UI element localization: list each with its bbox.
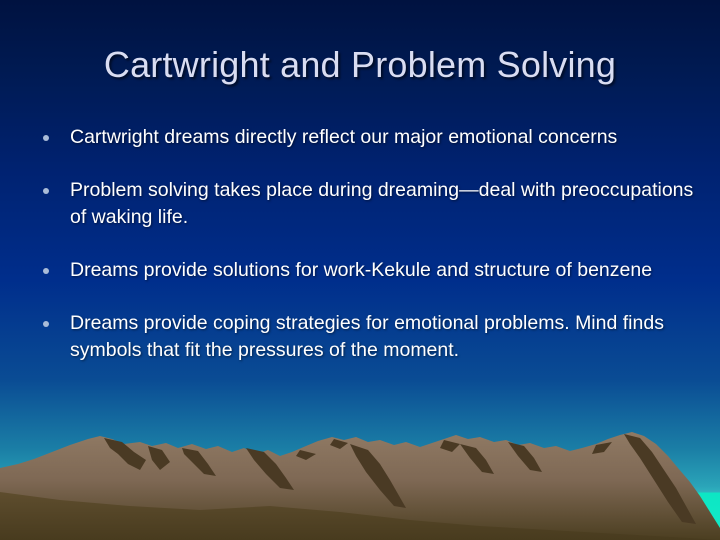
mountain-foreground-shape	[0, 492, 720, 540]
mountain-shadow-shape	[296, 450, 316, 460]
bullet-marker-icon	[43, 135, 49, 141]
list-item: Problem solving takes place during dream…	[36, 177, 696, 231]
list-item-text: Dreams provide solutions for work-Kekule…	[70, 257, 696, 284]
mountain-landscape-icon	[0, 430, 720, 540]
list-item: Dreams provide solutions for work-Kekule…	[36, 257, 696, 284]
list-item-text: Dreams provide coping strategies for emo…	[70, 310, 696, 364]
mountain-shadow-shape	[246, 448, 294, 490]
mountain-shadow-shape	[624, 434, 696, 524]
mountain-shadow-shape	[350, 444, 406, 508]
mountain-shadow-shape	[330, 439, 348, 449]
list-item: Dreams provide coping strategies for emo…	[36, 310, 696, 364]
bullet-marker-icon	[43, 268, 49, 274]
bullet-list: Cartwright dreams directly reflect our m…	[36, 124, 696, 390]
bullet-marker-icon	[43, 188, 49, 194]
mountain-shadow-shape	[104, 438, 146, 470]
mountain-ridge-shape	[0, 432, 720, 540]
list-item: Cartwright dreams directly reflect our m…	[36, 124, 696, 151]
slide-canvas: Cartwright and Problem Solving Cartwrigh…	[0, 0, 720, 540]
mountain-shadow-shape	[182, 448, 216, 476]
page-title: Cartwright and Problem Solving	[0, 44, 720, 86]
mountain-shadow-shape	[148, 446, 170, 470]
mountain-shadow-shape	[440, 440, 460, 452]
mountain-shadow-shape	[508, 442, 542, 472]
mountain-shadow-shape	[592, 442, 612, 454]
list-item-text: Problem solving takes place during dream…	[70, 177, 696, 231]
list-item-text: Cartwright dreams directly reflect our m…	[70, 124, 696, 151]
mountain-shadow-shape	[460, 444, 494, 474]
bullet-marker-icon	[43, 321, 49, 327]
